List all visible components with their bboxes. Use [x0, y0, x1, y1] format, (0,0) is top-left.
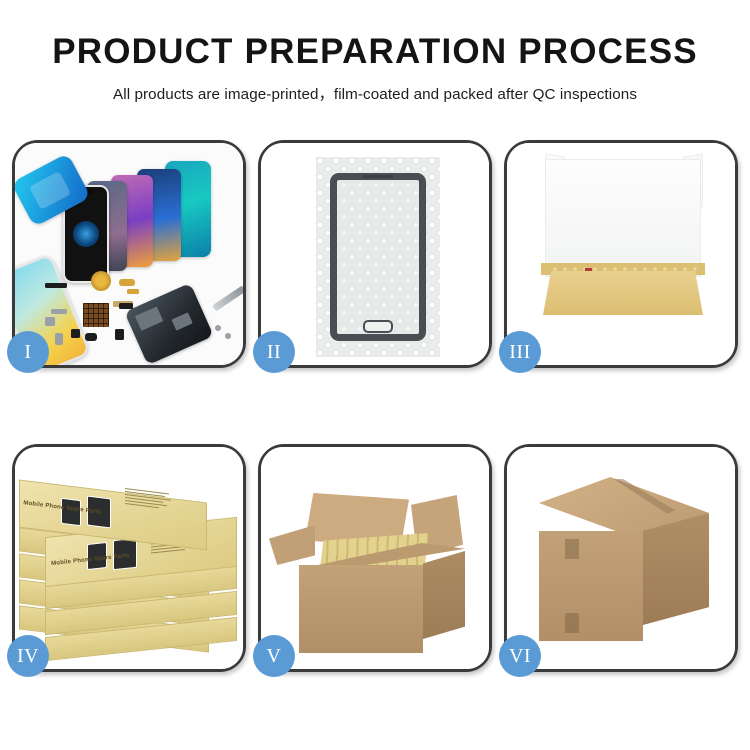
process-step-6: VI [504, 444, 738, 672]
sealed-carton-photo [507, 447, 735, 669]
bubble-film [316, 157, 440, 357]
process-step-3: III [504, 140, 738, 368]
step-badge-1: I [7, 331, 49, 373]
sealed-carton-side [643, 513, 709, 625]
step-2-image [261, 143, 489, 365]
step-4-image: Mobile Phone Spare Parts Mobile Phone Sp… [15, 447, 243, 669]
process-step-1: I [12, 140, 246, 368]
carton-flap-left [269, 525, 315, 565]
sealed-carton-front [539, 531, 643, 641]
tweezers-tool [212, 286, 243, 312]
carton-side-wall [423, 551, 465, 639]
process-step-2: II [258, 140, 492, 368]
open-carton-photo [261, 447, 489, 669]
step-badge-4: IV [7, 635, 49, 677]
box-stack: Mobile Phone Spare Parts Mobile Phone Sp… [17, 465, 243, 661]
page-subtitle: All products are image-printed，film-coat… [0, 82, 750, 104]
box-front-wall [543, 271, 703, 315]
page-title: PRODUCT PREPARATION PROCESS [0, 34, 750, 71]
step-6-image [507, 447, 735, 669]
step-badge-2: II [253, 331, 295, 373]
carton-handle-notch-top [565, 539, 579, 559]
step-badge-3: III [499, 331, 541, 373]
stacked-boxes-photo: Mobile Phone Spare Parts Mobile Phone Sp… [15, 447, 243, 669]
carton-handle-notch-bottom [565, 613, 579, 633]
process-step-4: Mobile Phone Spare Parts Mobile Phone Sp… [12, 444, 246, 672]
step-badge-6: VI [499, 635, 541, 677]
spare-parts-cluster [15, 143, 243, 365]
process-step-5: V [258, 444, 492, 672]
carton-front-wall [299, 565, 423, 653]
header: PRODUCT PREPARATION PROCESS All products… [0, 0, 750, 104]
wrapped-screen-photo [261, 143, 489, 365]
phone-parts-photo [15, 143, 243, 365]
chip-array [83, 303, 109, 327]
process-grid: I II [12, 140, 738, 672]
step-badge-5: V [253, 635, 295, 677]
step-1-image [15, 143, 243, 365]
step-5-image [261, 447, 489, 669]
step-3-image [507, 143, 735, 365]
kraft-box-photo [507, 143, 735, 365]
infographic-page: PRODUCT PREPARATION PROCESS All products… [0, 0, 750, 750]
foam-liner [545, 159, 701, 277]
phone-glass-panel [330, 173, 426, 341]
speaker-component [91, 271, 111, 291]
